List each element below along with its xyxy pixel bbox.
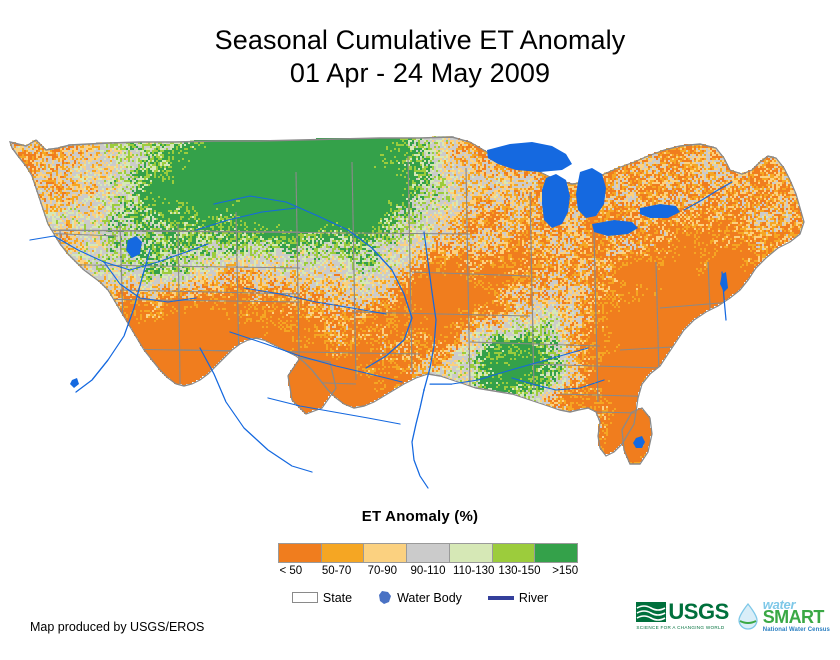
water-droplet-icon xyxy=(735,602,761,630)
feature-legend-item: State xyxy=(292,591,352,605)
page-title: Seasonal Cumulative ET Anomaly 01 Apr - … xyxy=(0,24,840,90)
state-outline-icon xyxy=(292,592,318,603)
river-line-icon xyxy=(488,596,514,600)
feature-legend-item: Water Body xyxy=(378,590,462,605)
legend-swatch-5 xyxy=(493,544,536,562)
watersmart-word-bottom: SMART xyxy=(763,608,824,626)
legend-label-0: < 50 xyxy=(268,565,314,577)
legend-label-3: 90-110 xyxy=(405,565,451,577)
legend-label-2: 70-90 xyxy=(359,565,405,577)
usgs-wordmark: USGS xyxy=(668,601,728,623)
legend-labels: < 5050-7070-9090-110110-130130-150>150 xyxy=(268,565,588,577)
feature-legend-label: Water Body xyxy=(397,591,462,605)
watersmart-logo: water SMART National Water Census xyxy=(735,598,830,633)
water-body-icon xyxy=(378,590,392,605)
title-line-1: Seasonal Cumulative ET Anomaly xyxy=(0,24,840,57)
legend-label-5: 130-150 xyxy=(497,565,543,577)
legend-label-6: >150 xyxy=(542,565,588,577)
feature-legend-item: River xyxy=(488,591,548,605)
watersmart-subtitle: National Water Census xyxy=(763,627,830,633)
feature-legend-label: State xyxy=(323,591,352,605)
legend-swatch-2 xyxy=(364,544,407,562)
title-line-2: 01 Apr - 24 May 2009 xyxy=(0,57,840,90)
legend-swatch-6 xyxy=(535,544,577,562)
logo-row: USGS science for a changing world water … xyxy=(636,598,830,633)
legend: ET Anomaly (%) < 5050-7070-9090-110110-1… xyxy=(0,508,840,525)
map-credit: Map produced by USGS/EROS xyxy=(30,620,204,634)
usgs-wave-icon xyxy=(636,602,666,622)
usgs-tagline: science for a changing world xyxy=(636,625,724,630)
conus-et-anomaly-map[interactable] xyxy=(0,112,840,497)
map-panel[interactable] xyxy=(0,112,840,497)
feature-legend-label: River xyxy=(519,591,548,605)
legend-swatch-0 xyxy=(279,544,322,562)
legend-title: ET Anomaly (%) xyxy=(0,508,840,525)
legend-swatch-4 xyxy=(450,544,493,562)
legend-swatch-1 xyxy=(322,544,365,562)
legend-label-1: 50-70 xyxy=(314,565,360,577)
legend-color-ramp xyxy=(278,543,578,563)
usgs-logo: USGS science for a changing world xyxy=(636,601,728,630)
legend-label-4: 110-130 xyxy=(451,565,497,577)
legend-swatch-3 xyxy=(407,544,450,562)
